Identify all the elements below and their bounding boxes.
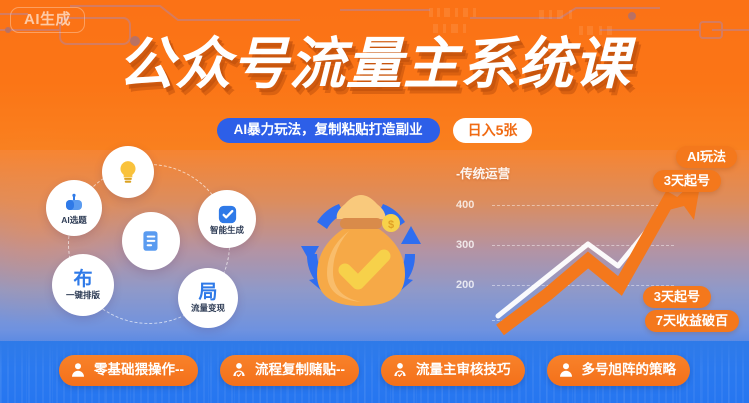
feature-pill-label: 多号旭阵的策略: [582, 363, 677, 377]
ai-generated-watermark: AI生成: [10, 7, 85, 33]
diagram-node-document: [122, 212, 180, 270]
money-bag-check-icon: $: [283, 182, 439, 327]
person-check-icon: [230, 361, 248, 379]
diagram-node-monetize: 局 流量变现: [178, 268, 238, 328]
document-icon: [138, 228, 164, 254]
feature-pill-row: 零基础猥操作-- 流程复制赌贴-- 流量主审核技巧: [0, 355, 749, 386]
subtitle-blue-badge: AI暴力玩法，复制粘贴打造副业: [217, 118, 440, 143]
feature-pill-copy-process[interactable]: 流程复制赌贴--: [220, 355, 359, 386]
diagram-node-smart-gen: 智能生成: [198, 190, 256, 248]
page-title: 公众号流量主系统课: [0, 36, 749, 92]
workflow-diagram: AI选题 智能生成 布 一键排版 局 流量变现: [30, 146, 282, 338]
feature-pill-audit-skills[interactable]: 流量主审核技巧: [381, 355, 525, 386]
diagram-node-label: 一键排版: [66, 291, 100, 300]
diagram-node-glyph: 局: [198, 283, 217, 302]
tag-3day-start-bot: 3天起号: [643, 286, 711, 308]
svg-text:$: $: [388, 219, 394, 231]
tag-3day-start-top: 3天起号: [653, 170, 721, 192]
diagram-node-label: 智能生成: [210, 226, 244, 235]
tag-ai-method: AI玩法: [676, 146, 737, 168]
diagram-node-layout: 布 一键排版: [52, 254, 114, 316]
diagram-node-label: AI选题: [61, 216, 87, 225]
feature-pill-zero-basis[interactable]: 零基础猥操作--: [59, 355, 198, 386]
tag-7day-revenue: 7天收益破百: [645, 310, 739, 332]
person-icon: [557, 361, 575, 379]
feature-pill-label: 流程复制赌贴--: [255, 363, 345, 377]
lightbulb-icon: [115, 159, 141, 185]
course-promo-poster: AI生成 公众号流量主系统课 AI暴力玩法，复制粘贴打造副业 日入5张 AI选题: [0, 0, 749, 403]
feature-pill-label: 零基础猥操作--: [94, 363, 184, 377]
diagram-node-ai-topic: AI选题: [46, 180, 102, 236]
robot-icon: [62, 192, 86, 216]
diagram-node-glyph: 布: [73, 270, 92, 289]
feature-pill-label: 流量主审核技巧: [416, 363, 511, 377]
subtitle-row: AI暴力玩法，复制粘贴打造副业 日入5张: [0, 118, 749, 143]
person-icon: [69, 361, 87, 379]
diagram-node-idea: [102, 146, 154, 198]
person-check-icon: [391, 361, 409, 379]
check-edit-icon: [216, 203, 239, 226]
chart-series-ai: [500, 194, 672, 330]
subtitle-white-badge: 日入5张: [453, 118, 533, 143]
feature-pill-multi-account[interactable]: 多号旭阵的策略: [547, 355, 691, 386]
diagram-node-label: 流量变现: [191, 304, 225, 313]
